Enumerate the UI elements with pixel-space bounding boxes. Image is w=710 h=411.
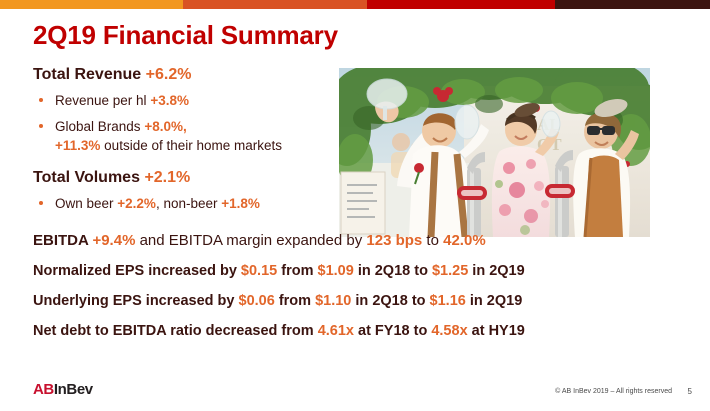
bullet-dot-icon: [39, 124, 43, 128]
stat-segment-text: at HY19: [468, 323, 525, 339]
stat-segment-text: in 2Q18 to: [351, 293, 429, 309]
stat-segment-highlight: $1.25: [432, 263, 468, 279]
bullet-revenue-per-hl-text: Revenue per hl +3.8%: [55, 91, 189, 110]
bullet-text-segment: outside of their home markets: [100, 138, 282, 153]
page-title: 2Q19 Financial Summary: [33, 20, 338, 51]
bullet-highlight-segment: +1.8%: [221, 196, 260, 211]
stat-segment-text: at FY18 to: [354, 323, 431, 339]
lead-total-revenue-label: Total Revenue: [33, 66, 141, 83]
bullet-text-segment: , non-beer: [156, 196, 221, 211]
topbar-segment-3: [367, 0, 555, 9]
bullet-dot-icon: [39, 98, 43, 102]
stat-segment-highlight: 4.61x: [318, 323, 354, 339]
stat-segment-highlight: $1.10: [315, 293, 351, 309]
bullet-own-beer-text: Own beer +2.2%, non-beer +1.8%: [55, 194, 260, 213]
stat-segment-label: EBITDA: [33, 232, 92, 249]
stat-segment-text: Net debt to EBITDA ratio decreased from: [33, 323, 318, 339]
copyright-notice: © AB InBev 2019 – All rights reserved: [555, 388, 672, 395]
stat-segment-highlight: $0.06: [239, 293, 275, 309]
stat-segment-text: and EBITDA margin expanded by: [135, 232, 366, 249]
topbar-segment-4: [555, 0, 710, 9]
bullet-text-segment: Revenue per hl: [55, 93, 150, 108]
stat-segment-text: in 2Q19: [466, 293, 522, 309]
bullet-dot-icon: [39, 201, 43, 205]
page-number: 5: [688, 387, 692, 396]
slide-root: 2Q19 Financial Summary: [0, 0, 710, 411]
bullet-highlight-segment: +2.2%: [117, 196, 156, 211]
bullet-highlight-segment: +3.8%: [150, 93, 189, 108]
stat-segment-highlight: 123 bps: [366, 232, 422, 249]
lead-total-revenue-value: +6.2%: [146, 66, 192, 83]
stat-segment-text: from: [275, 293, 315, 309]
lead-total-volumes-label: Total Volumes: [33, 169, 140, 186]
topbar-segment-1: [0, 0, 183, 9]
abinbev-logo: ABInBev: [33, 381, 93, 398]
stat-segment-text: in 2Q18 to: [354, 263, 432, 279]
logo-ab-text: AB: [33, 381, 54, 398]
bullet-global-brands-text: Global Brands +8.0%,+11.3% outside of th…: [55, 117, 282, 155]
stat-segment-text: Underlying EPS increased by: [33, 293, 239, 309]
bullet-text-segment: Global Brands: [55, 119, 144, 134]
stat-line-underlying-eps: Underlying EPS increased by $0.06 from $…: [33, 286, 673, 316]
stat-line-net-debt: Net debt to EBITDA ratio decreased from …: [33, 316, 673, 346]
bullet-own-beer: Own beer +2.2%, non-beer +1.8%: [33, 194, 673, 213]
bullet-text-segment: Own beer: [55, 196, 117, 211]
stat-segment-highlight: $1.09: [318, 263, 354, 279]
stat-segment-text: Normalized EPS increased by: [33, 263, 241, 279]
bullet-revenue-per-hl: Revenue per hl +3.8%: [33, 91, 673, 110]
summary-content: Total Revenue +6.2% Revenue per hl +3.8%…: [33, 66, 673, 346]
lead-total-revenue: Total Revenue +6.2%: [33, 66, 673, 84]
stat-segment-highlight: 42.0%: [443, 232, 486, 249]
stat-segment-highlight: 4.58x: [431, 323, 467, 339]
topbar-segment-2: [183, 0, 367, 9]
stat-segment-text: in 2Q19: [468, 263, 524, 279]
stat-segment-highlight: $1.16: [430, 293, 466, 309]
lead-total-volumes: Total Volumes +2.1%: [33, 169, 673, 187]
logo-inbev-text: InBev: [54, 381, 93, 398]
lead-total-volumes-value: +2.1%: [144, 169, 190, 186]
stat-line-normalized-eps: Normalized EPS increased by $0.15 from $…: [33, 256, 673, 286]
stat-segment-highlight: +9.4%: [92, 232, 135, 249]
stat-segment-text: from: [277, 263, 317, 279]
stat-segment-text: to: [422, 232, 443, 249]
stat-line-ebitda: EBITDA +9.4% and EBITDA margin expanded …: [33, 226, 673, 256]
top-color-bar: [0, 0, 710, 9]
bullet-highlight-segment: +8.0%,: [144, 119, 186, 134]
bullet-global-brands: Global Brands +8.0%,+11.3% outside of th…: [33, 117, 673, 155]
stat-segment-highlight: $0.15: [241, 263, 277, 279]
bullet-highlight-segment: +11.3%: [55, 138, 100, 153]
